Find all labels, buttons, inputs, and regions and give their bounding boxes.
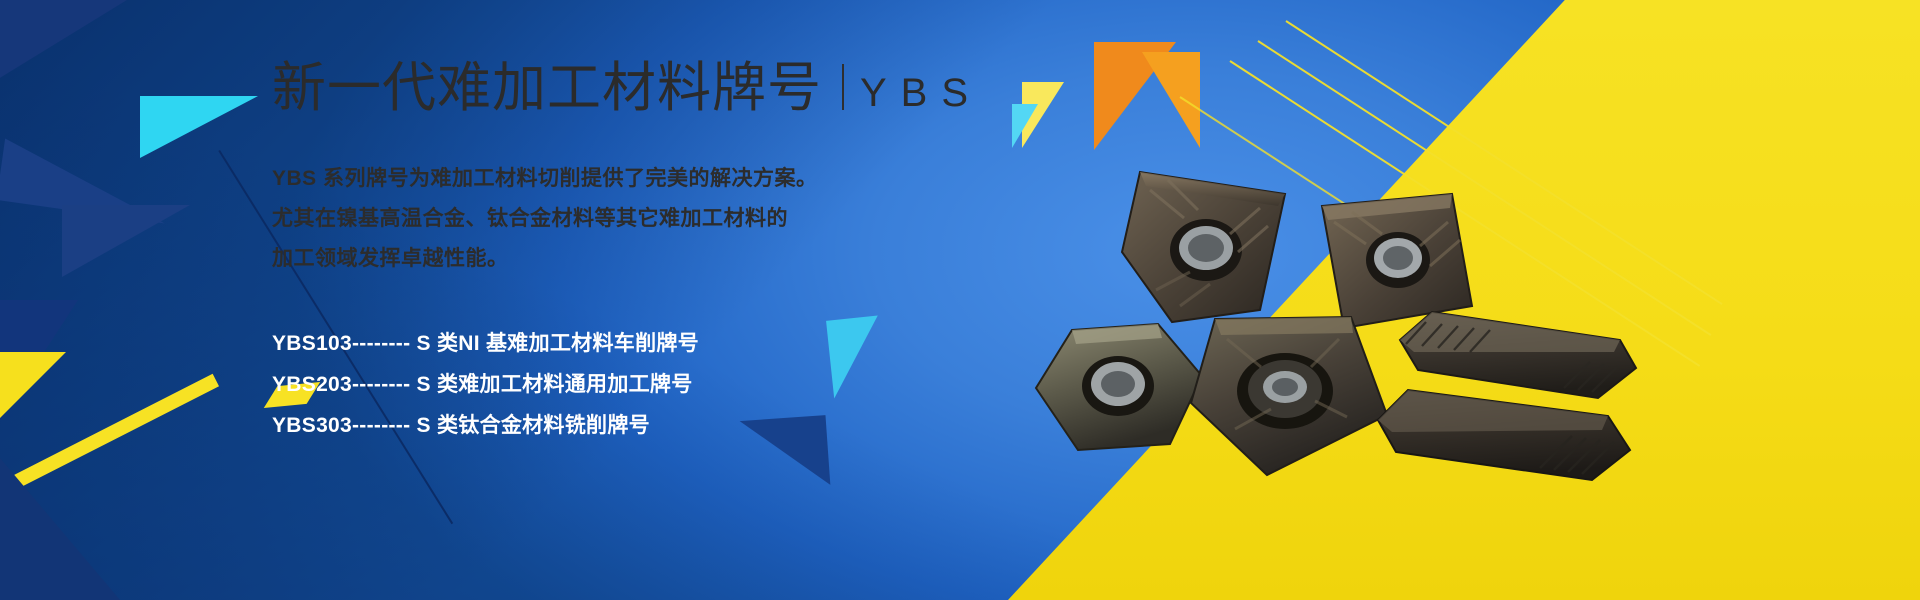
square-milling-insert <box>1175 305 1405 490</box>
headline-separator <box>842 64 844 110</box>
headline: 新一代难加工材料牌号 YBS <box>272 60 1252 117</box>
headline-ybs: YBS <box>860 72 982 114</box>
product-photo-inserts <box>1000 150 1640 530</box>
decorative-triangle-navy-bottom-left <box>0 458 120 600</box>
grooving-bar-insert-lower <box>1372 368 1640 508</box>
decorative-triangle-navy-mid <box>62 205 190 277</box>
decorative-triangle-cyan <box>140 96 258 158</box>
decorative-triangle-yellow-left <box>0 352 66 418</box>
promo-banner: 新一代难加工材料牌号 YBS YBS 系列牌号为难加工材料切削提供了完美的解决方… <box>0 0 1920 600</box>
decorative-triangle-navy-top <box>0 0 140 84</box>
headline-chinese: 新一代难加工材料牌号 <box>272 60 822 117</box>
